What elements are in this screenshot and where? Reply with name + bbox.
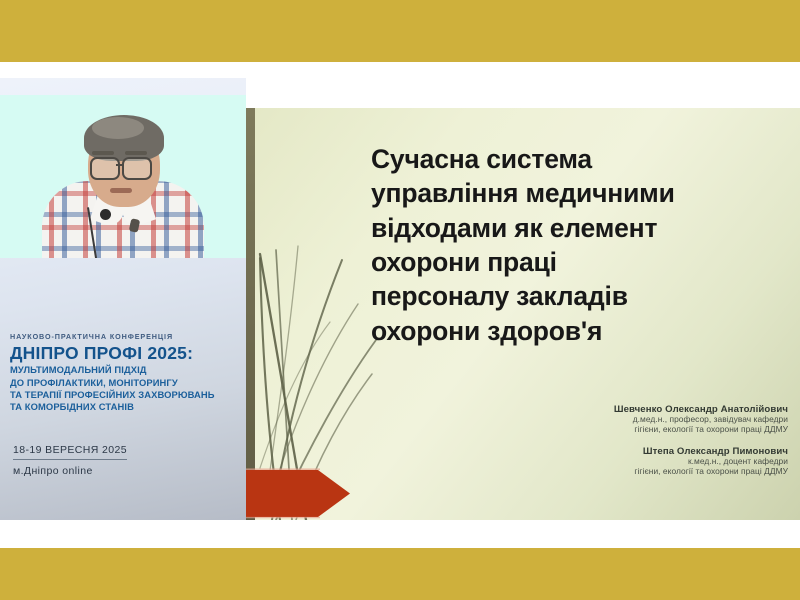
conference-subtitle-line-1: МУЛЬТИМОДАЛЬНИЙ ПІДХІД: [10, 364, 236, 376]
conference-subtitle-line-2: ДО ПРОФІЛАКТИКИ, МОНІТОРИНГУ: [10, 377, 236, 389]
conference-subtitle-line-4: ТА КОМОРБІДНИХ СТАНІВ: [10, 401, 236, 413]
top-gold-bar: [0, 0, 800, 62]
conference-lockup: НАУКОВО-ПРАКТИЧНА КОНФЕРЕНЦІЯ ДНІПРО ПРО…: [10, 332, 236, 414]
left-panel: НАУКОВО-ПРАКТИЧНА КОНФЕРЕНЦІЯ ДНІПРО ПРО…: [0, 78, 246, 520]
speaker-eyebrow-right: [125, 151, 147, 155]
author-role-line: гігієни, екології та охорони праці ДДМУ: [458, 467, 788, 477]
author-entry: Шевченко Олександр Анатолійович д.мед.н.…: [458, 404, 788, 435]
content-band: НАУКОВО-ПРАКТИЧНА КОНФЕРЕНЦІЯ ДНІПРО ПРО…: [0, 78, 800, 520]
presentation-stage: НАУКОВО-ПРАКТИЧНА КОНФЕРЕНЦІЯ ДНІПРО ПРО…: [0, 0, 800, 600]
conference-title: ДНІПРО ПРОФІ 2025:: [10, 344, 236, 362]
author-role-line: гігієни, екології та охорони праці ДДМУ: [458, 425, 788, 435]
bottom-gold-bar: [0, 548, 800, 600]
event-place: м.Дніпро online: [13, 465, 223, 477]
speaker-eyebrow-left: [92, 151, 114, 155]
glasses-bridge-icon: [116, 164, 122, 166]
presentation-slide: Сучасна система управління медичними від…: [246, 108, 800, 520]
author-entry: Штепа Олександр Пимонович к.мед.н., доце…: [458, 446, 788, 477]
slide-title-line-3: відходами як елемент: [371, 211, 789, 245]
speaker-hair-highlight: [92, 117, 144, 139]
microphone-icon: [100, 209, 111, 220]
slide-title-line-5: персоналу закладів: [371, 279, 789, 313]
speaker-mouth: [110, 188, 132, 193]
slide-title: Сучасна система управління медичними від…: [371, 142, 789, 348]
glasses-lens-left-icon: [90, 157, 120, 180]
slide-title-line-6: охорони здоров'я: [371, 314, 789, 348]
conference-subtitle-line-3: ТА ТЕРАПІЇ ПРОФЕСІЙНИХ ЗАХВОРЮВАНЬ: [10, 389, 236, 401]
speaker-video-feed[interactable]: [0, 95, 246, 258]
event-date: 18-19 ВЕРЕСНЯ 2025: [13, 444, 127, 460]
accent-arrow-icon: [246, 468, 350, 519]
author-spacer: [458, 435, 788, 446]
event-details: 18-19 ВЕРЕСНЯ 2025 м.Дніпро online: [13, 440, 223, 477]
conference-kicker: НАУКОВО-ПРАКТИЧНА КОНФЕРЕНЦІЯ: [10, 332, 236, 341]
slide-title-line-4: охорони праці: [371, 245, 789, 279]
slide-title-line-1: Сучасна система: [371, 142, 789, 176]
slide-title-line-2: управління медичними: [371, 176, 789, 210]
author-list: Шевченко Олександр Анатолійович д.мед.н.…: [458, 404, 788, 477]
glasses-lens-right-icon: [122, 157, 152, 180]
